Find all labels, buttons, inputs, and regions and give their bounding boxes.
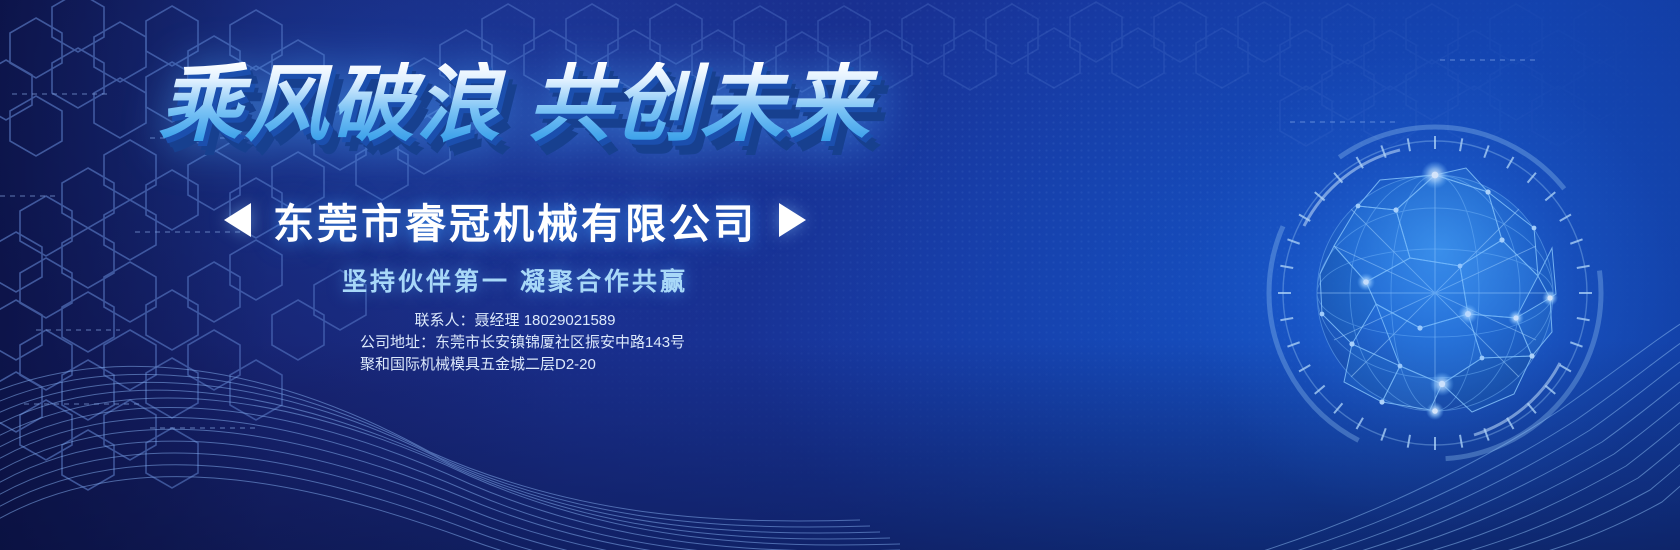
company-name: 东莞市睿冠机械有限公司 — [273, 190, 757, 250]
globe-glow — [1190, 48, 1680, 538]
wireframe-globe-graphic — [1260, 118, 1610, 468]
page-title: 乘风破浪 共创未来 — [0, 62, 1030, 146]
company-name-row: 东莞市睿冠机械有限公司 — [0, 190, 1030, 250]
right-triangle-icon — [779, 203, 806, 237]
promo-banner: 乘风破浪 共创未来 东莞市睿冠机械有限公司 坚持伙伴第一 凝聚合作共赢 联系人：… — [0, 0, 1680, 550]
tagline: 坚持伙伴第一 凝聚合作共赢 — [0, 262, 1030, 298]
address-label: 公司地址： — [360, 334, 435, 351]
company-address-line: 公司地址：东莞市长安镇锦厦社区振安中路143号聚和国际机械模具五金城二层D2-2… — [334, 332, 696, 376]
banner-content: 乘风破浪 共创未来 东莞市睿冠机械有限公司 坚持伙伴第一 凝聚合作共赢 联系人：… — [0, 0, 1030, 550]
contact-person-line: 联系人：聂经理 18029021589 — [0, 310, 1030, 332]
left-triangle-icon — [224, 203, 251, 237]
contact-block: 联系人：聂经理 18029021589 公司地址：东莞市长安镇锦厦社区振安中路1… — [0, 310, 1030, 375]
